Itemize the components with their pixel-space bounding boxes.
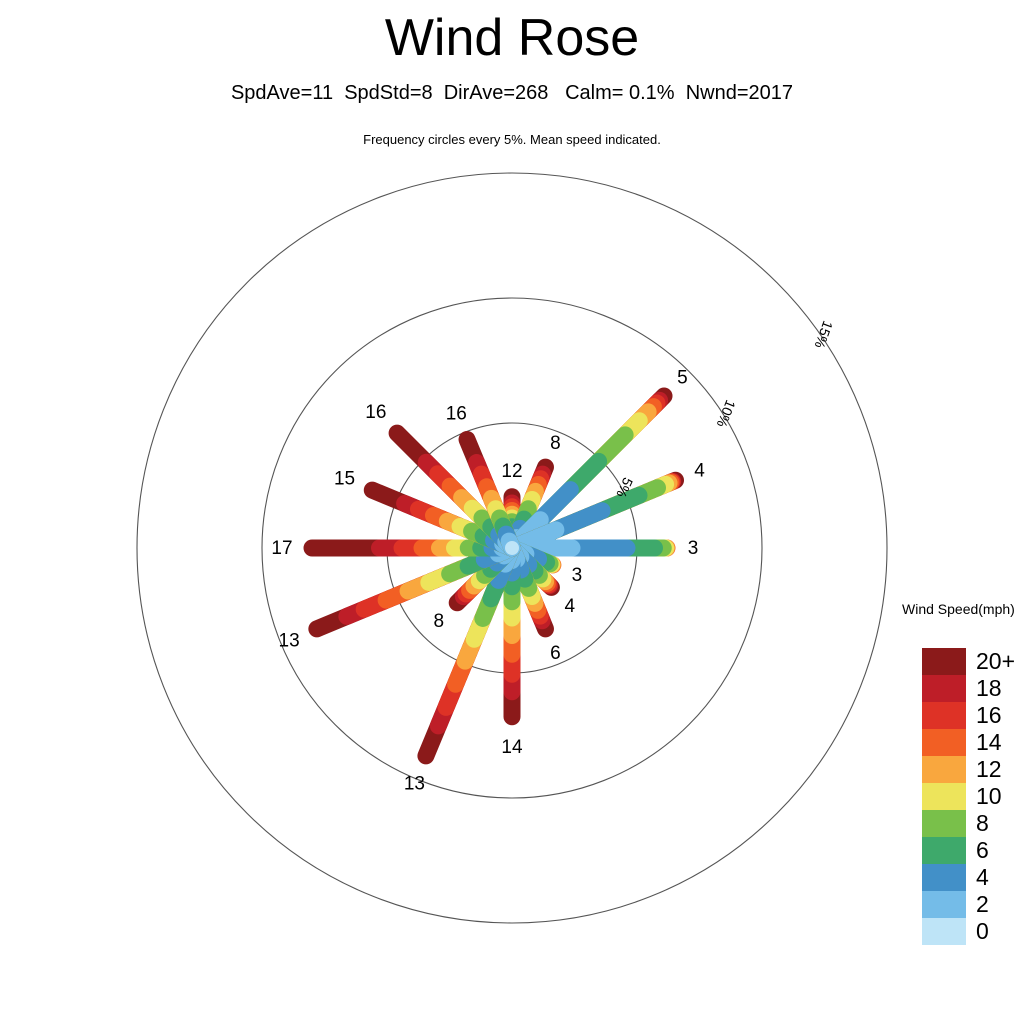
mean-speed-label-NW: 16	[365, 402, 386, 423]
mean-speed-label-SW: 8	[434, 611, 445, 632]
legend-row: 16	[922, 702, 1015, 729]
ring-label-10: 10%	[714, 398, 739, 430]
legend-label: 8	[976, 810, 989, 837]
legend-color-swatch	[922, 837, 966, 864]
wind-petals	[312, 396, 676, 756]
mean-speed-label-E: 3	[688, 538, 699, 559]
legend-color-swatch	[922, 891, 966, 918]
legend-row: 8	[922, 810, 1015, 837]
mean-speed-label-NNW: 16	[446, 404, 467, 425]
legend-label: 4	[976, 864, 989, 891]
legend-label: 0	[976, 918, 989, 945]
legend-color-swatch	[922, 810, 966, 837]
wind-rose-page: Wind Rose SpdAve=11 SpdStd=8 DirAve=268 …	[0, 0, 1024, 1024]
mean-speed-label-ESE: 3	[572, 565, 583, 586]
legend-row: 4	[922, 864, 1015, 891]
ring-label-15: 15%	[812, 319, 837, 351]
mean-speed-label-SSW: 13	[404, 774, 425, 795]
legend-row: 12	[922, 756, 1015, 783]
legend-title: Wind Speed(mph)	[902, 601, 1015, 617]
mean-speed-label-W: 17	[271, 538, 292, 559]
wind-rose-plot: 5%10%15% 128543346141381317151616	[0, 0, 1024, 1024]
legend-color-swatch	[922, 648, 966, 675]
legend-color-swatch	[922, 864, 966, 891]
mean-speed-label-WNW: 15	[334, 469, 355, 490]
legend-color-swatch	[922, 756, 966, 783]
legend-row: 18	[922, 675, 1015, 702]
legend-label: 18	[976, 675, 1002, 702]
legend-label: 16	[976, 702, 1002, 729]
legend-color-swatch	[922, 702, 966, 729]
legend-row: 6	[922, 837, 1015, 864]
legend-color-swatch	[922, 729, 966, 756]
mean-speed-label-NE: 5	[677, 368, 688, 389]
legend-row: 14	[922, 729, 1015, 756]
legend-row: 2	[922, 891, 1015, 918]
legend-color-swatch	[922, 675, 966, 702]
legend-label: 20+	[976, 648, 1015, 675]
mean-speed-label-WSW: 13	[279, 630, 300, 651]
mean-speed-label-NNE: 8	[550, 433, 561, 454]
legend-label: 14	[976, 729, 1002, 756]
legend-row: 20+	[922, 648, 1015, 675]
mean-speed-label-ENE: 4	[694, 460, 705, 481]
calm-center-dot	[505, 541, 519, 555]
mean-speed-label-N: 12	[501, 461, 522, 482]
legend-label: 12	[976, 756, 1002, 783]
legend-label: 10	[976, 783, 1002, 810]
wind-speed-legend: 20+181614121086420	[922, 648, 1015, 945]
legend-color-swatch	[922, 783, 966, 810]
legend-label: 2	[976, 891, 989, 918]
mean-speed-label-S: 14	[501, 737, 523, 758]
mean-speed-label-SSE: 6	[550, 643, 561, 664]
legend-row: 10	[922, 783, 1015, 810]
legend-label: 6	[976, 837, 989, 864]
legend-color-swatch	[922, 918, 966, 945]
legend-row: 0	[922, 918, 1015, 945]
mean-speed-label-SE: 4	[565, 596, 576, 617]
